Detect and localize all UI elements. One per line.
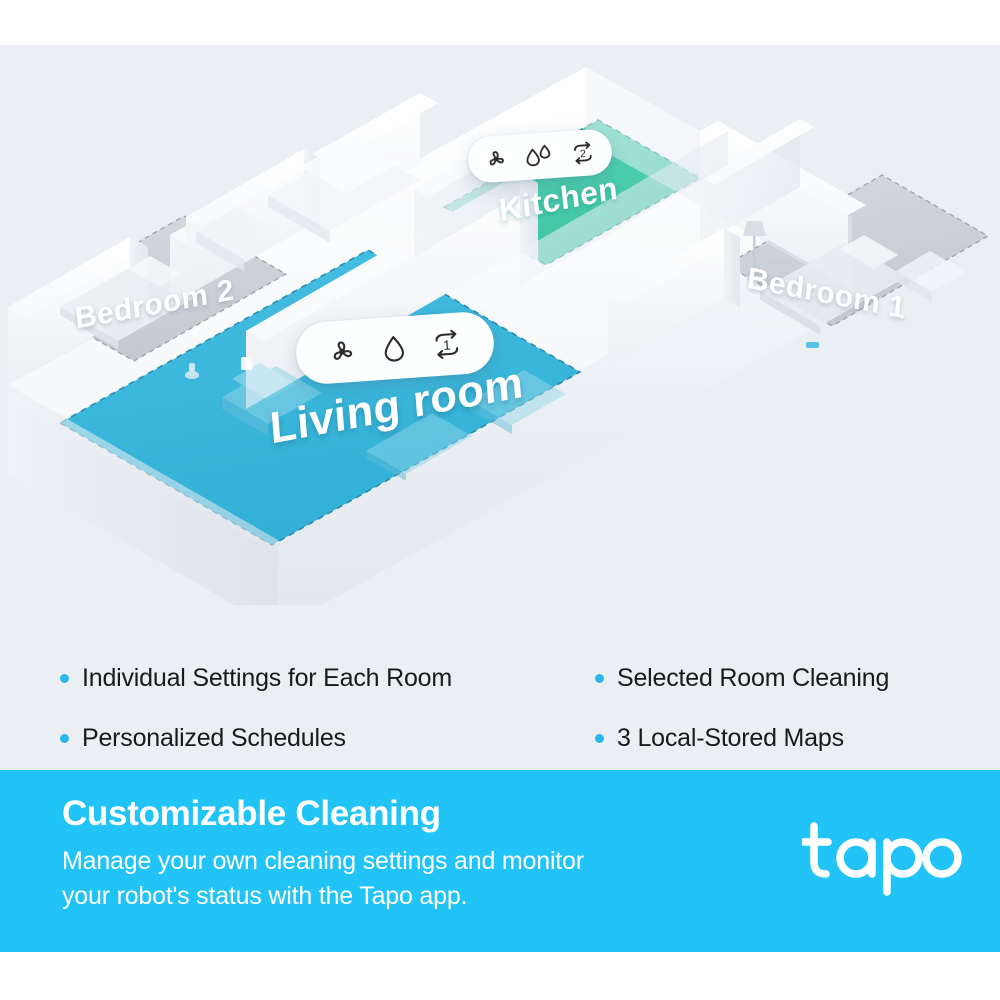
feature-label: Personalized Schedules — [82, 724, 346, 753]
feature-label: Selected Room Cleaning — [617, 664, 889, 693]
feature-list: Individual Settings for Each Room Select… — [0, 648, 1000, 768]
decor-accent-strip — [806, 342, 819, 348]
banner-subtitle: Manage your own cleaning settings and mo… — [62, 844, 762, 913]
feature-label: Individual Settings for Each Room — [82, 664, 452, 693]
bullet-icon — [595, 674, 604, 683]
feature-item: Individual Settings for Each Room — [60, 664, 595, 693]
banner-subtitle-line-2: your robot's status with the Tapo app. — [62, 879, 762, 914]
banner-copy: Customizable Cleaning Manage your own cl… — [62, 794, 762, 913]
product-feature-card: { "colors": { "page_background": "#fffff… — [0, 0, 1000, 1000]
water-drop-icon[interactable] — [522, 142, 556, 170]
fan-icon[interactable] — [482, 145, 510, 173]
repeat-icon[interactable]: 1 — [428, 326, 466, 362]
repeat-count-living: 1 — [443, 338, 452, 353]
promo-banner: Customizable Cleaning Manage your own cl… — [0, 770, 1000, 952]
repeat-icon[interactable]: 2 — [568, 139, 598, 167]
feature-item: Selected Room Cleaning — [595, 664, 940, 693]
bullet-icon — [595, 734, 604, 743]
hero-section: Living room Kitchen Bedroom 2 Bedroom 1 — [0, 45, 1000, 770]
feature-item: Personalized Schedules — [60, 724, 595, 753]
repeat-count-kitchen: 2 — [580, 148, 587, 160]
floorplan-illustration — [0, 45, 1000, 605]
banner-title: Customizable Cleaning — [62, 794, 762, 834]
fan-icon[interactable] — [324, 334, 360, 370]
tapo-logo — [802, 818, 962, 896]
water-drop-icon[interactable] — [378, 330, 410, 366]
feature-item: 3 Local-Stored Maps — [595, 724, 940, 753]
bullet-icon — [60, 734, 69, 743]
bullet-icon — [60, 674, 69, 683]
floorplan-3d[interactable]: Living room Kitchen Bedroom 2 Bedroom 1 — [0, 45, 1000, 605]
feature-label: 3 Local-Stored Maps — [617, 724, 844, 753]
banner-subtitle-line-1: Manage your own cleaning settings and mo… — [62, 844, 762, 879]
decor-wall-switch — [241, 357, 252, 370]
